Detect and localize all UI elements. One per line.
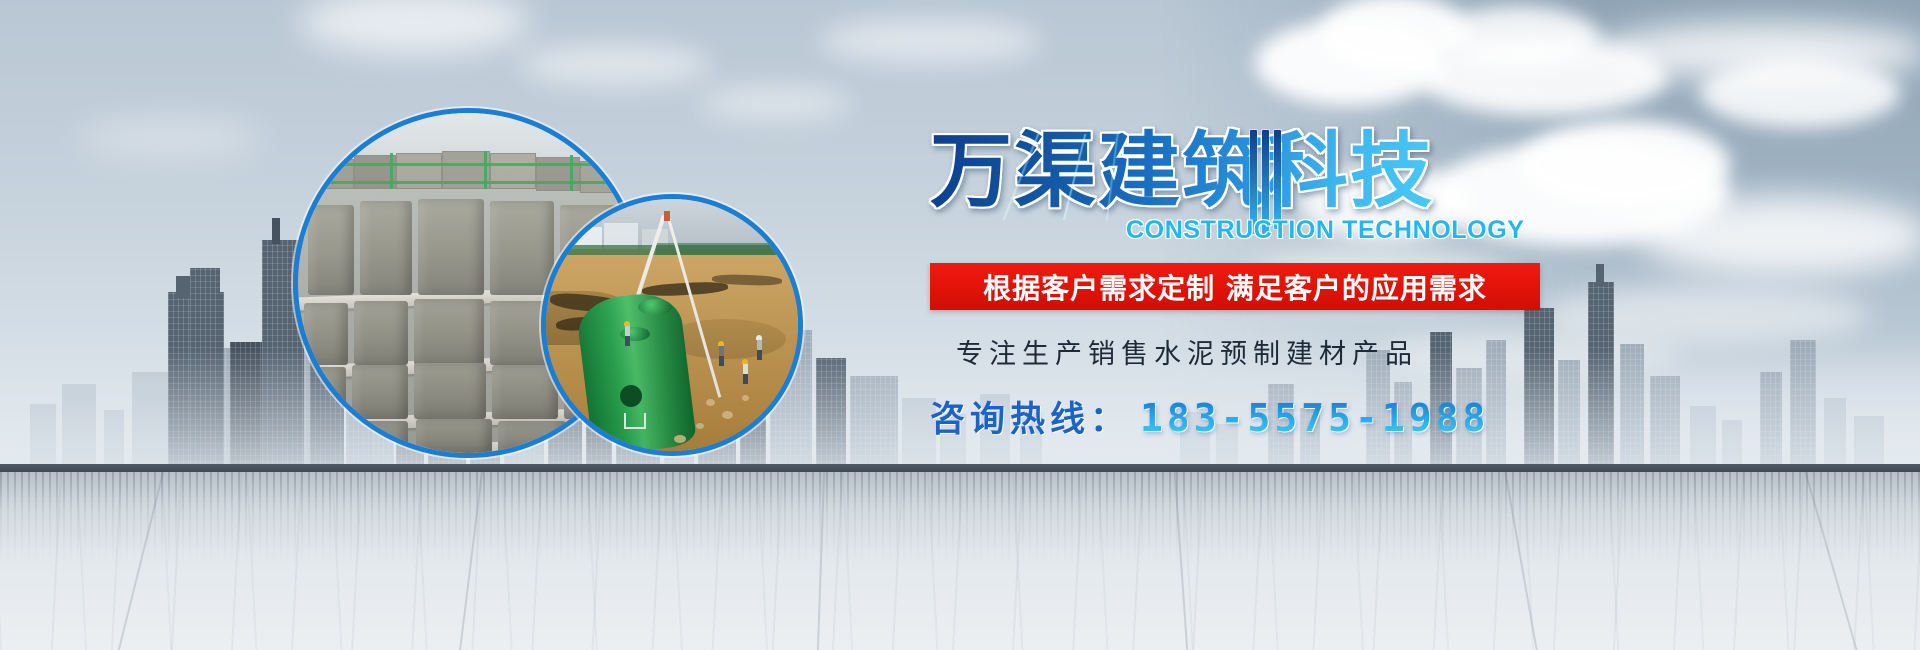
hotline-label: 咨询热线：	[930, 391, 1130, 442]
brand-title-row: 万渠建筑科技	[930, 120, 1920, 230]
slogan-banner: 根据客户需求定制 满足客户的应用需求	[930, 263, 1540, 310]
photo-septic-tank-installation	[541, 194, 803, 456]
banner-text-content: 万渠建筑科技 CONSTRUCTION TECHNOLOGY 根据客户需求定制 …	[930, 120, 1920, 442]
promo-banner: 万渠建筑科技 CONSTRUCTION TECHNOLOGY 根据客户需求定制 …	[0, 0, 1920, 650]
reflective-ground	[0, 472, 1920, 650]
hotline-number[interactable]: 183-5575-1988	[1140, 396, 1489, 440]
slogan-text: 根据客户需求定制 满足客户的应用需求	[983, 267, 1487, 307]
brand-title-cn: 万渠建筑科技	[930, 120, 1434, 224]
tagline-text: 专注生产销售水泥预制建材产品	[956, 332, 1920, 371]
hotline-row: 咨询热线： 183-5575-1988	[930, 391, 1920, 442]
brand-title-en: CONSTRUCTION TECHNOLOGY	[1126, 216, 1920, 245]
